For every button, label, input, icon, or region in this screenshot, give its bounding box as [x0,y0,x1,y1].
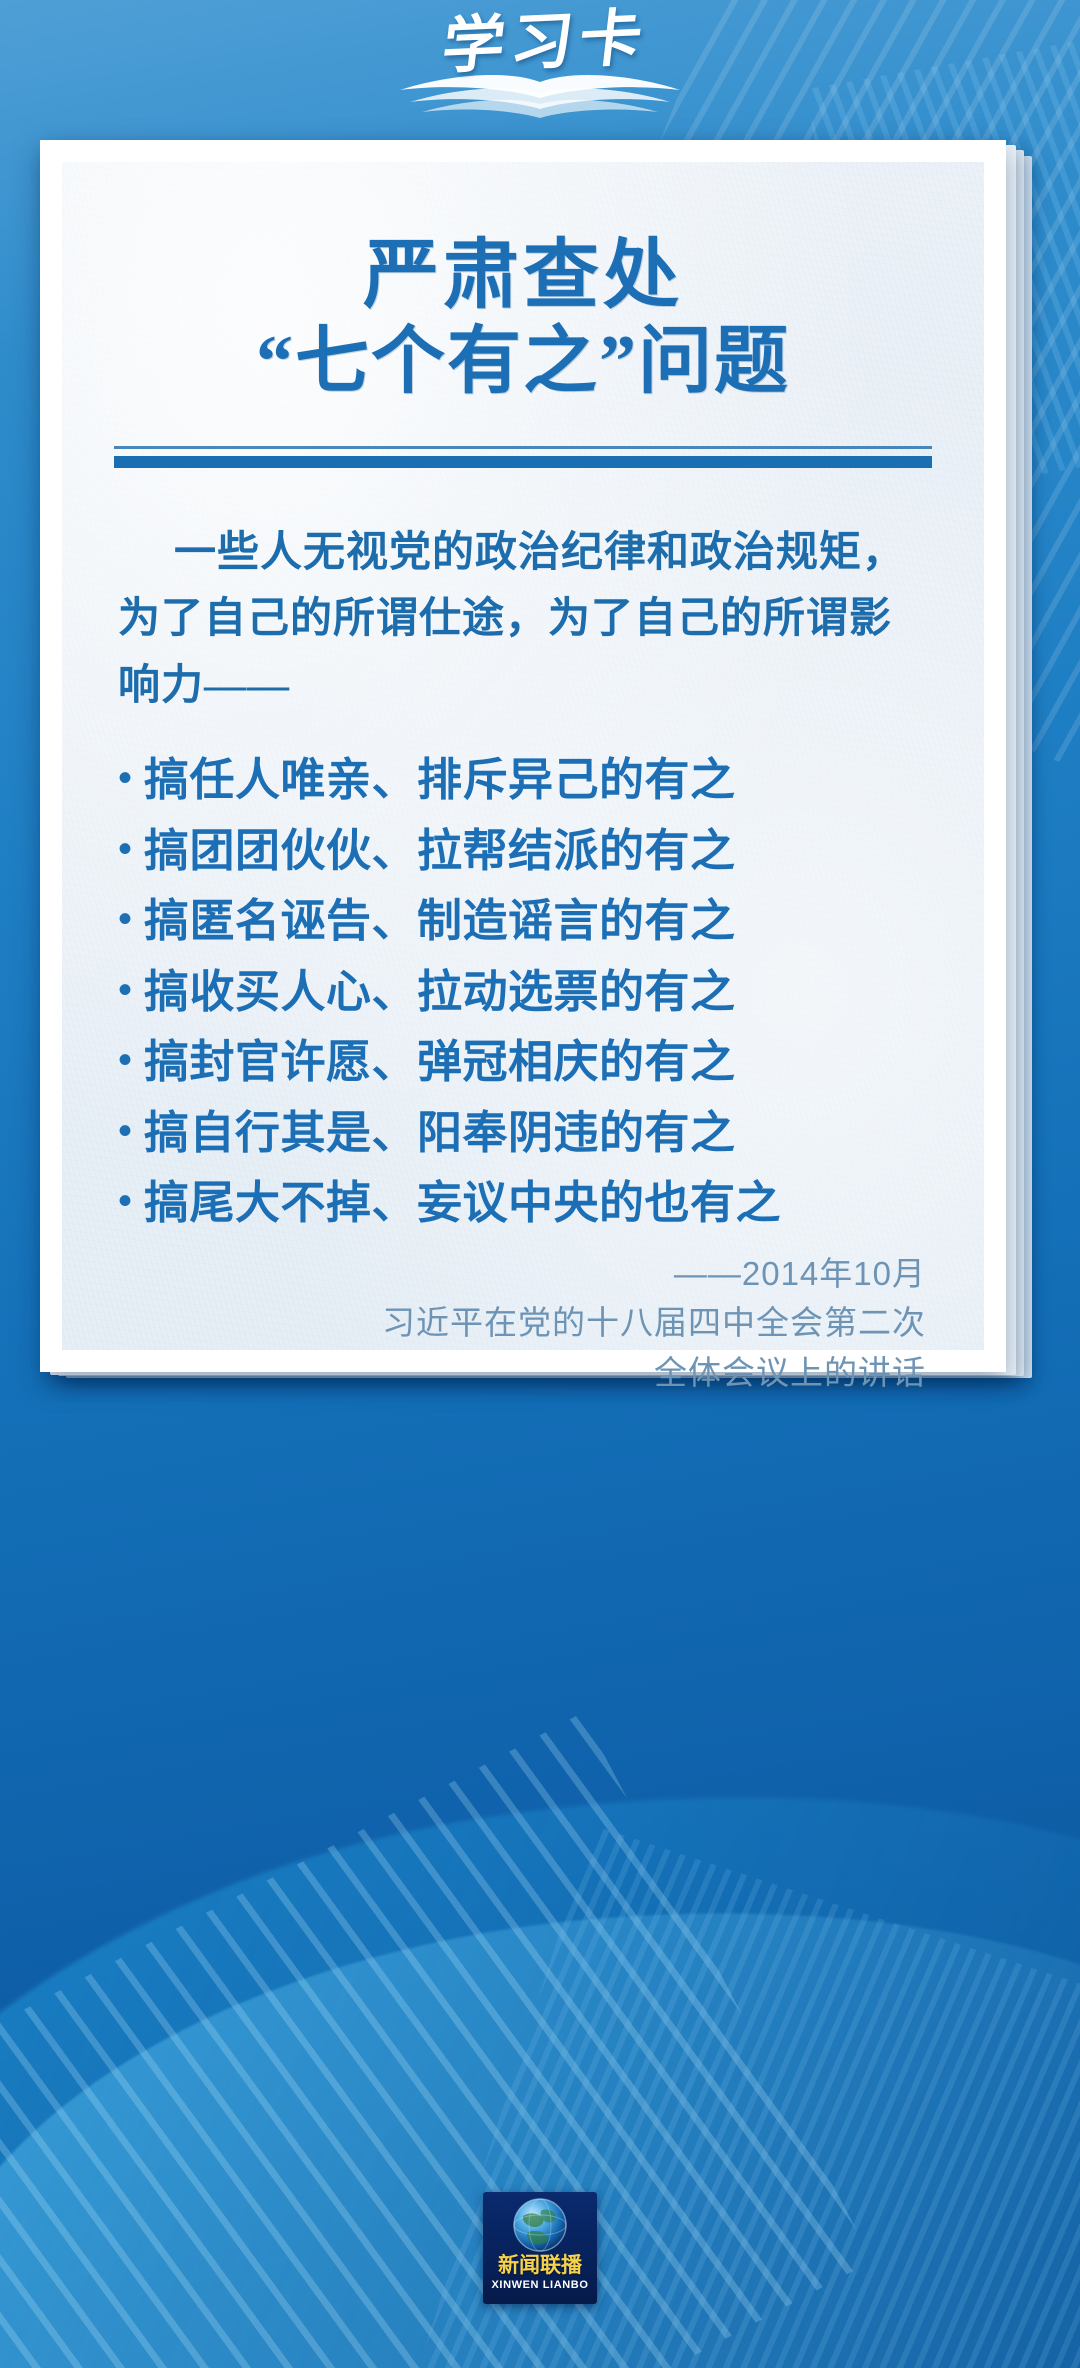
list-item: • 搞团团伙伙、拉帮结派的有之 [114,826,932,876]
list-item-label: 搞收买人心、拉动选票的有之 [144,967,736,1017]
list-item-label: 搞匿名诬告、制造谣言的有之 [144,896,736,946]
list-item: • 搞收买人心、拉动选票的有之 [114,967,932,1017]
divider-thin-rule [114,446,932,449]
bullet-dot-icon: • [118,1040,132,1080]
attribution-source-line-2: 全体会议上的讲话 [114,1348,926,1398]
divider-thick-rule [114,456,932,468]
card-title-line-2: “七个有之”问题 [114,320,932,406]
poster-root: 学习卡 严肃查处 “七个有之”问题 一些人无视党的政治纪律和政治规矩，为了自己的… [0,0,1080,2368]
bullet-dot-icon: • [118,1181,132,1221]
list-item: • 搞任人唯亲、排斥异己的有之 [114,755,932,805]
list-item: • 搞封官许愿、弹冠相庆的有之 [114,1037,932,1087]
list-item-label: 搞尾大不掉、妄议中央的也有之 [144,1178,781,1228]
xinwen-lianbo-badge: 新闻联播 XINWEN LIANBO [483,2192,597,2304]
badge-title-cn: 新闻联播 [498,2255,582,2276]
list-item-label: 搞团团伙伙、拉帮结派的有之 [144,826,736,876]
list-item: • 搞匿名诬告、制造谣言的有之 [114,896,932,946]
attribution-block: ——2014年10月 习近平在党的十八届四中全会第二次 全体会议上的讲话 [114,1249,932,1408]
bullet-dot-icon: • [118,899,132,939]
bullet-dot-icon: • [118,970,132,1010]
bullet-dot-icon: • [118,1111,132,1151]
bullet-dot-icon: • [118,829,132,869]
card-title: 严肃查处 “七个有之”问题 [114,232,932,406]
attribution-source-line-1: 习近平在党的十八届四中全会第二次 [114,1298,926,1348]
attribution-date: ——2014年10月 [114,1249,926,1299]
intro-paragraph: 一些人无视党的政治纪律和政治规矩，为了自己的所谓仕途，为了自己的所谓影响力—— [114,520,932,719]
globe-icon [509,2196,571,2254]
bullet-dot-icon: • [118,758,132,798]
content-card-inner: 严肃查处 “七个有之”问题 一些人无视党的政治纪律和政治规矩，为了自己的所谓仕途… [62,162,984,1350]
bullet-list: • 搞任人唯亲、排斥异己的有之 • 搞团团伙伙、拉帮结派的有之 • 搞匿名诬告、… [114,755,932,1249]
list-item-label: 搞封官许愿、弹冠相庆的有之 [144,1037,736,1087]
list-item: • 搞尾大不掉、妄议中央的也有之 [114,1178,932,1228]
list-item-label: 搞自行其是、阳奉阴违的有之 [144,1108,736,1158]
header-logo: 学习卡 [0,12,1080,138]
list-item: • 搞自行其是、阳奉阴违的有之 [114,1108,932,1158]
card-title-line-1: 严肃查处 [114,232,932,320]
badge-title-en: XINWEN LIANBO [491,2280,588,2291]
content-card: 严肃查处 “七个有之”问题 一些人无视党的政治纪律和政治规矩，为了自己的所谓仕途… [40,140,1006,1372]
header-logo-text: 学习卡 [439,8,651,79]
list-item-label: 搞任人唯亲、排斥异己的有之 [144,755,736,805]
title-divider [114,446,932,468]
